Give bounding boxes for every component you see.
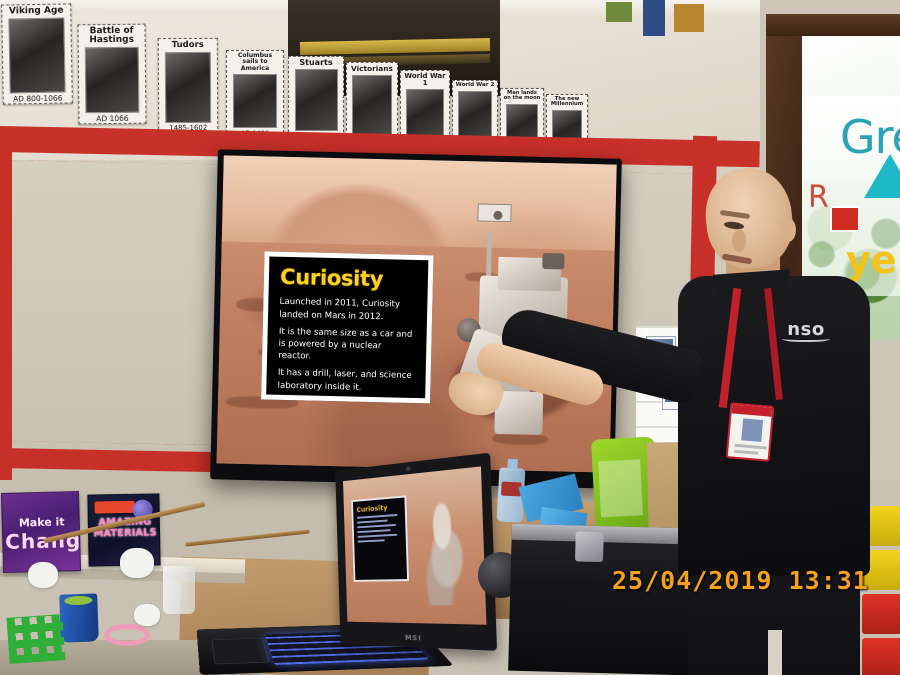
timeline-card-image bbox=[406, 89, 444, 140]
msi-laptop[interactable]: Curiosity MSI bbox=[200, 462, 500, 675]
timeline-card-title: Battle of Hastings bbox=[81, 27, 143, 46]
shirt-logo: nso bbox=[778, 312, 834, 346]
timeline-card-image bbox=[85, 47, 139, 113]
timeline-card: Battle of Hastings AD 1066 bbox=[77, 24, 146, 125]
laptop-slide-title: Curiosity bbox=[356, 503, 400, 514]
timeline-card: Tudors 1485-1602 bbox=[158, 38, 219, 134]
timeline-card-title: Viking Age bbox=[9, 7, 64, 17]
laptop-slide-line bbox=[357, 524, 396, 528]
plastic-beaker bbox=[163, 566, 195, 614]
flight-case-corner bbox=[575, 531, 604, 562]
timeline-card-image bbox=[165, 52, 212, 124]
slide-title: Curiosity bbox=[280, 267, 417, 291]
timeline-card-date: AD 1066 bbox=[96, 114, 128, 122]
camera-timestamp: 25/04/2019 13:31 bbox=[612, 566, 869, 595]
timeline-card-image bbox=[9, 18, 65, 93]
recess-green-object bbox=[606, 2, 632, 22]
laptop-slide-line bbox=[357, 514, 398, 519]
laptop-slide-box: Curiosity bbox=[351, 495, 409, 582]
timeline-card: Stuarts 1603-1713 bbox=[288, 56, 344, 142]
timeline-card-title: World War 2 bbox=[456, 83, 495, 89]
timeline-card: Columbus sails to America AD 1492 bbox=[226, 50, 284, 138]
laptop-slide-line bbox=[357, 529, 390, 533]
timeline-card-title: Stuarts bbox=[299, 59, 332, 67]
slide-paragraph: It is the same size as a car and is powe… bbox=[278, 326, 416, 366]
classroom-photo: Viking Age AD 800-1066 Battle of Hasting… bbox=[0, 0, 900, 675]
laptop-trackpad[interactable] bbox=[212, 638, 271, 665]
timeline-card-title: Tudors bbox=[172, 41, 204, 50]
badge-text-line bbox=[735, 444, 767, 450]
webcam-icon bbox=[405, 466, 410, 471]
laptop-lid: Curiosity MSI bbox=[335, 453, 497, 651]
laptop-slide-line bbox=[357, 519, 388, 523]
tv-screen: Curiosity Launched in 2011, Curiosity la… bbox=[217, 155, 617, 472]
laptop-screen: Curiosity bbox=[343, 466, 486, 624]
slide-paragraph: It has a drill, laser, and science labor… bbox=[277, 367, 415, 395]
recess-amber-object bbox=[674, 4, 704, 32]
book-subtitle: Make it bbox=[7, 516, 77, 529]
tissue-prop bbox=[134, 604, 160, 626]
display-board-border-left bbox=[0, 150, 12, 480]
presenter-ear bbox=[780, 218, 796, 242]
badge-photo bbox=[741, 418, 763, 442]
poster-green-text: Gre bbox=[840, 110, 900, 164]
laptop-slide-line bbox=[357, 539, 384, 542]
presenter: nso bbox=[640, 160, 900, 675]
timeline-card-date: AD 800-1066 bbox=[13, 94, 63, 102]
slide-paragraph: Launched in 2011, Curiosity landed on Ma… bbox=[279, 296, 417, 324]
tissue-prop bbox=[28, 562, 58, 588]
pink-ring-prop bbox=[104, 624, 150, 646]
timeline-card-title: Man lands on the moon bbox=[503, 91, 541, 102]
presenter-nose bbox=[732, 230, 746, 252]
timeline-card-image bbox=[352, 75, 392, 136]
timeline-card-title: The new Millennium bbox=[549, 97, 585, 108]
presenter-leg-gap bbox=[768, 630, 782, 675]
tissue-prop bbox=[120, 548, 154, 578]
timeline-card-image bbox=[233, 74, 278, 128]
rover-rtg bbox=[543, 253, 565, 270]
timeline-card-title: Victorians bbox=[351, 65, 393, 73]
badge-text-line bbox=[734, 450, 758, 455]
laptop-brand-label: MSI bbox=[405, 634, 422, 643]
presenter-polo-collar bbox=[713, 269, 791, 308]
recess-blue-object bbox=[643, 0, 665, 36]
blue-mug bbox=[59, 593, 99, 642]
slide-text-box: Curiosity Launched in 2011, Curiosity la… bbox=[261, 252, 433, 404]
laptop-rover-image bbox=[411, 489, 476, 605]
timeline-card: Viking Age AD 800-1066 bbox=[1, 3, 73, 104]
bag-label bbox=[598, 459, 643, 517]
timeline-card-image bbox=[458, 91, 492, 142]
timeline-card-title: World War 1 bbox=[403, 73, 447, 87]
id-badge bbox=[726, 402, 775, 462]
timeline-card-title: Columbus sails to America bbox=[229, 53, 281, 72]
laptop-slide-line bbox=[357, 534, 397, 538]
book-banner bbox=[94, 501, 134, 514]
badge-header bbox=[732, 404, 773, 416]
green-foam-grid bbox=[6, 614, 65, 664]
timeline-card-image bbox=[295, 69, 338, 131]
door-header bbox=[766, 14, 900, 36]
